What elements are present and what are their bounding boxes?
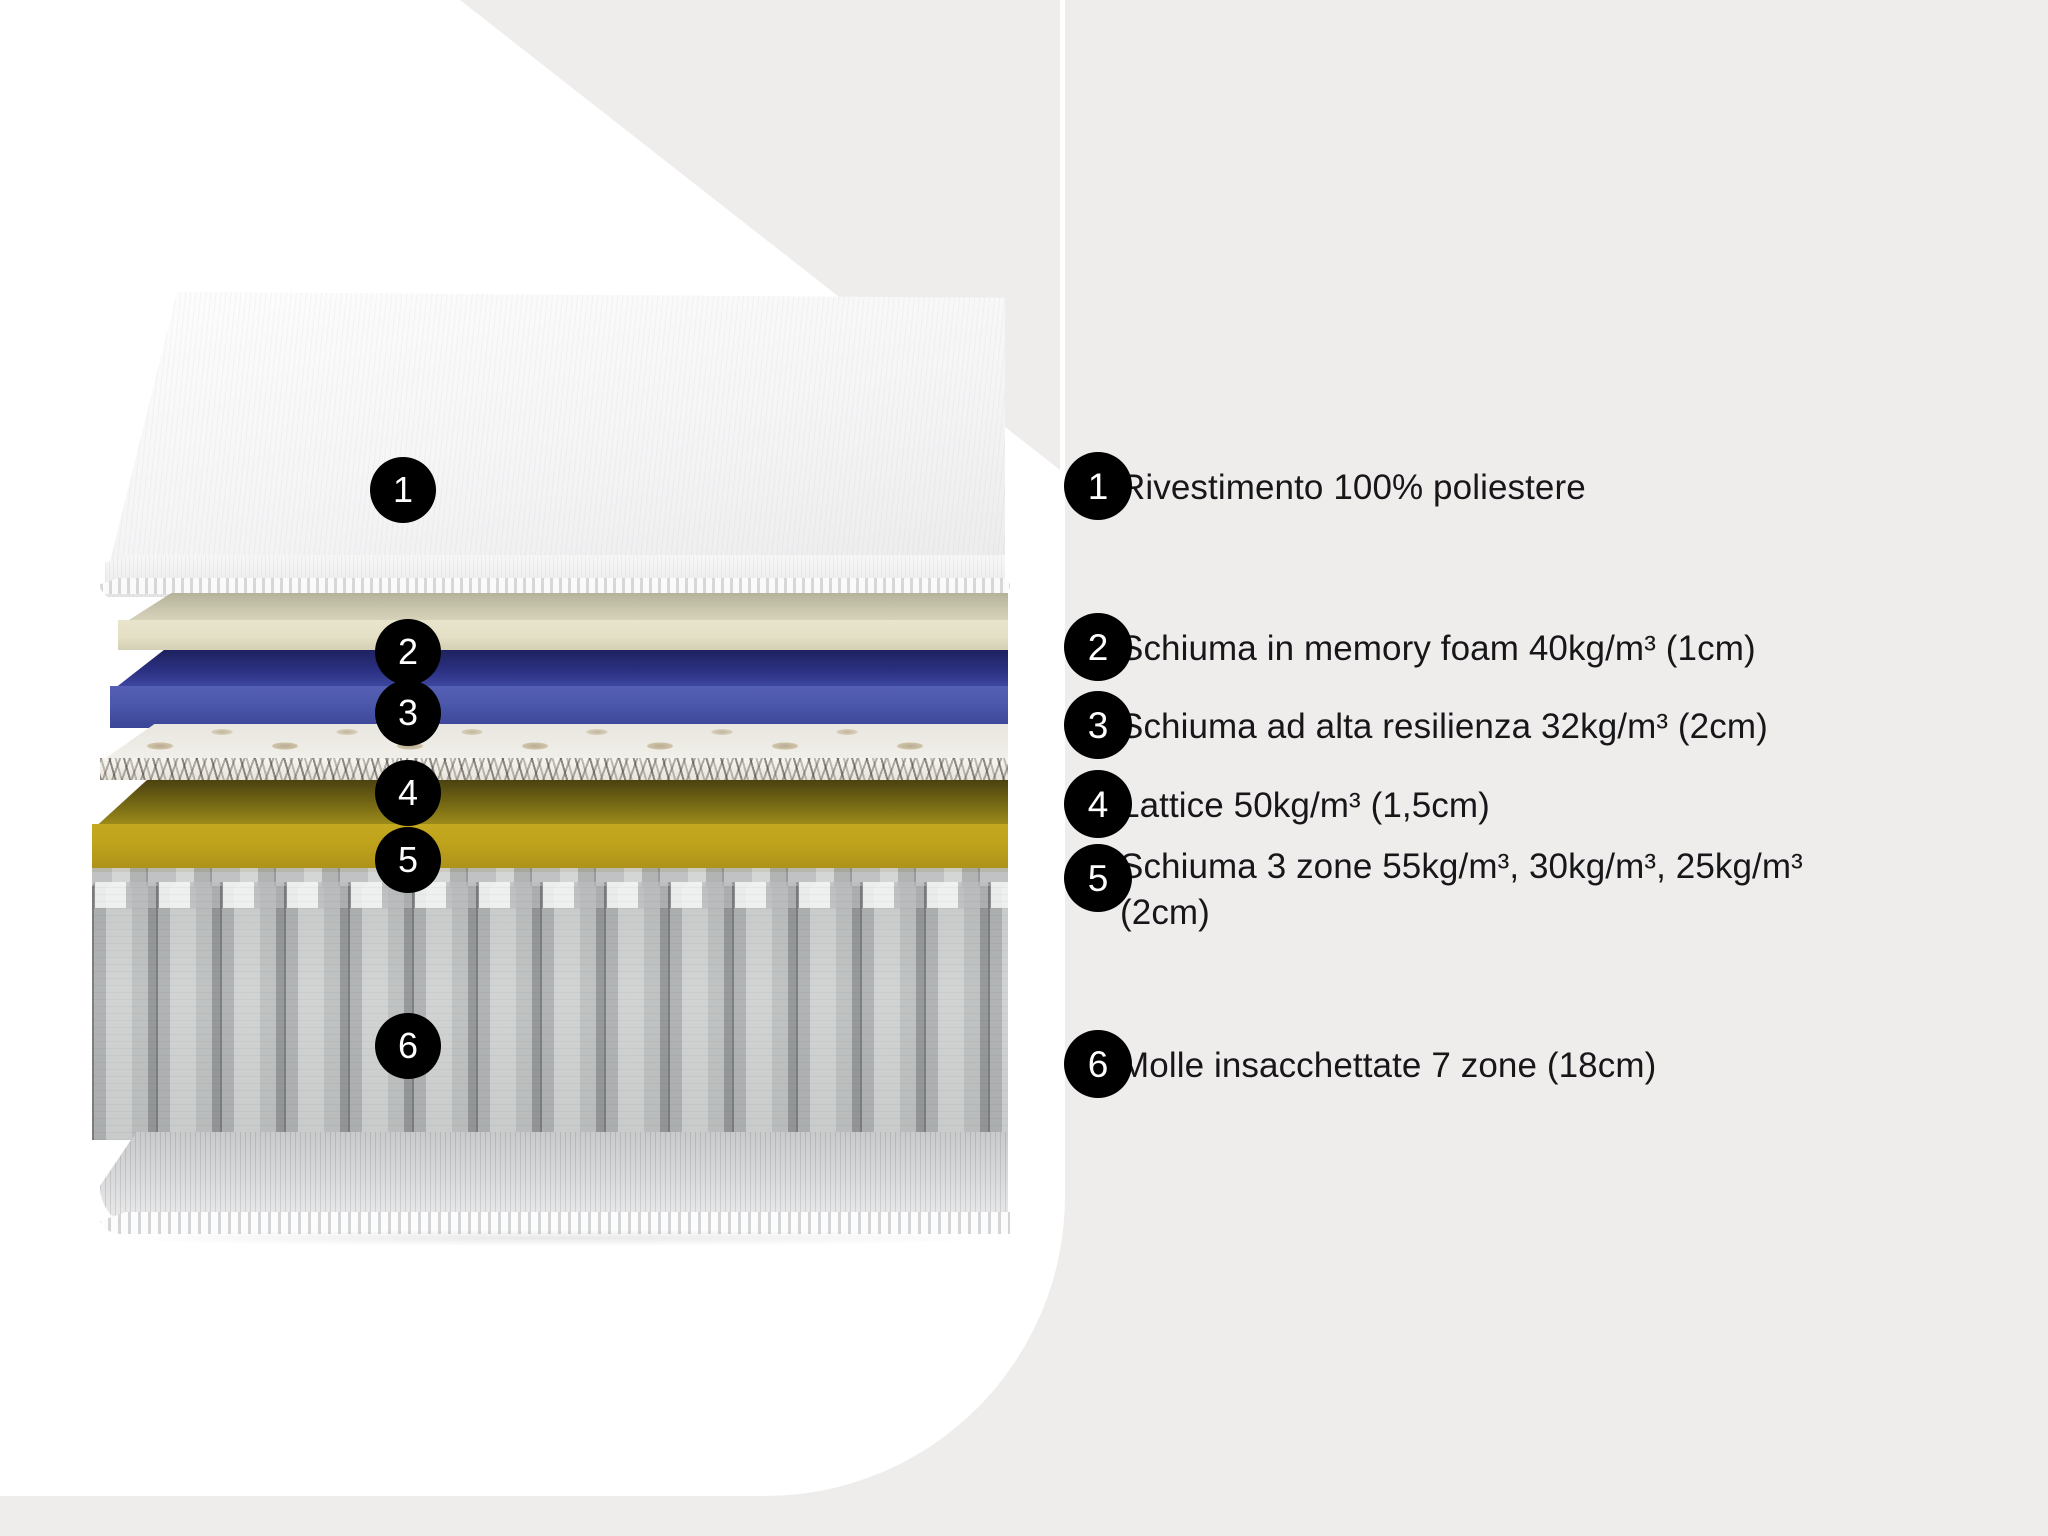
layer-badge-1: 1	[370, 457, 436, 523]
layer-6-pocket-springs	[92, 868, 1008, 1140]
layer-badge-6: 6	[375, 1013, 441, 1079]
legend-label-4: Lattice 50kg/m³ (1,5cm)	[1120, 770, 1490, 829]
legend-item-6: 6 Molle insacchettate 7 zone (18cm)	[1064, 1030, 1656, 1089]
layer-badge-2: 2	[375, 619, 441, 685]
layer-5-three-zone-foam-top	[92, 780, 1008, 830]
legend-label-2: Schiuma in memory foam 40kg/m³ (1cm)	[1120, 613, 1756, 672]
layer-2-memory-foam-front	[118, 620, 1008, 650]
layer-1-cover-top-surface	[105, 292, 1005, 582]
layer-badge-4: 4	[375, 760, 441, 826]
legend-item-3: 3 Schiuma ad alta resilienza 32kg/m³ (2c…	[1064, 691, 1768, 750]
legend-badge-5: 5	[1064, 844, 1132, 912]
legend-badge-6: 6	[1064, 1030, 1132, 1098]
legend-item-2: 2 Schiuma in memory foam 40kg/m³ (1cm)	[1064, 613, 1756, 672]
legend-badge-2: 2	[1064, 613, 1132, 681]
legend-label-6: Molle insacchettate 7 zone (18cm)	[1120, 1030, 1656, 1089]
legend-label-3: Schiuma ad alta resilienza 32kg/m³ (2cm)	[1120, 691, 1768, 750]
layer-1-stitched-piping	[100, 578, 1010, 594]
legend-badge-4: 4	[1064, 770, 1132, 838]
legend-badge-1: 1	[1064, 452, 1132, 520]
layer-3-high-resilience-foam-front	[110, 686, 1008, 728]
layer-4-latex-front	[100, 758, 1008, 780]
legend-badge-3: 3	[1064, 691, 1132, 759]
mattress-cutaway-illustration: 1 2 3 4 5 6	[0, 0, 1100, 1536]
pocket-spring-front-row	[92, 886, 1008, 1140]
layer-badge-5: 5	[375, 827, 441, 893]
legend-item-1: 1 Rivestimento 100% poliestere	[1064, 452, 1586, 511]
layer-4-latex-perforated-top	[100, 724, 1008, 762]
mattress-layers-infographic: 1 2 3 4 5 6 1 Rivestimento 100% polieste…	[0, 0, 2048, 1536]
legend-label-1: Rivestimento 100% poliestere	[1120, 452, 1586, 511]
layer-badge-3: 3	[375, 680, 441, 746]
legend-item-4: 4 Lattice 50kg/m³ (1,5cm)	[1064, 770, 1490, 829]
legend-item-5: 5 Schiuma 3 zone 55kg/m³, 30kg/m³, 25kg/…	[1064, 844, 1860, 936]
legend-label-5: Schiuma 3 zone 55kg/m³, 30kg/m³, 25kg/m³…	[1120, 844, 1860, 936]
layer-5-three-zone-foam-front	[92, 824, 1008, 872]
mattress-base-piping	[98, 1212, 1010, 1234]
